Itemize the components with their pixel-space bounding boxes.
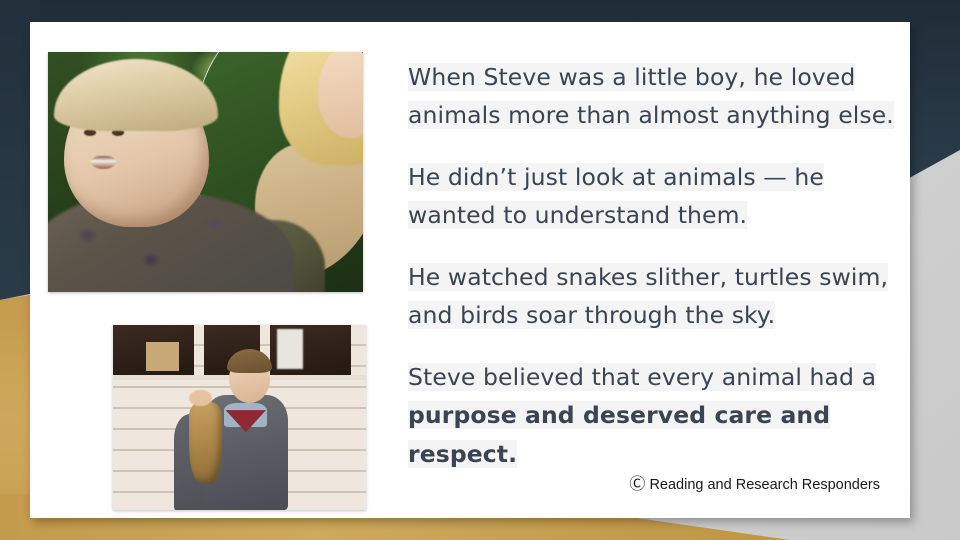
body-text-run-bold: purpose and deserved care and respect.: [408, 401, 830, 467]
photo-bottom-cardboard-box: [146, 342, 179, 372]
footer-credit: Ⓒ Reading and Research Responders: [30, 470, 910, 494]
body-paragraph: When Steve was a little boy, he loved an…: [408, 58, 898, 134]
photo-toddler-and-woman: [48, 52, 363, 292]
body-paragraph: He watched snakes slither, turtles swim,…: [408, 258, 898, 334]
slide: When Steve was a little boy, he loved an…: [0, 0, 960, 540]
footer-credit-text: Reading and Research Responders: [649, 477, 880, 493]
body-paragraph: Steve believed that every animal had a p…: [408, 358, 898, 472]
photo-top-boy-mouth: [91, 156, 116, 169]
body-text-run: Steve believed that every animal had a: [408, 363, 876, 391]
body-paragraph: He didn’t just look at animals — he want…: [408, 158, 898, 234]
photo-bottom-curtain: [277, 329, 302, 370]
slide-content-card: When Steve was a little boy, he loved an…: [30, 22, 910, 518]
photo-bottom-boy-hand: [189, 390, 212, 407]
body-text-run: He didn’t just look at animals — he want…: [408, 163, 824, 229]
body-text-column: When Steve was a little boy, he loved an…: [408, 58, 898, 473]
copyright-icon: Ⓒ: [629, 476, 645, 493]
body-text-run: He watched snakes slither, turtles swim,…: [408, 263, 888, 329]
body-text-run: When Steve was a little boy, he loved an…: [408, 63, 894, 129]
